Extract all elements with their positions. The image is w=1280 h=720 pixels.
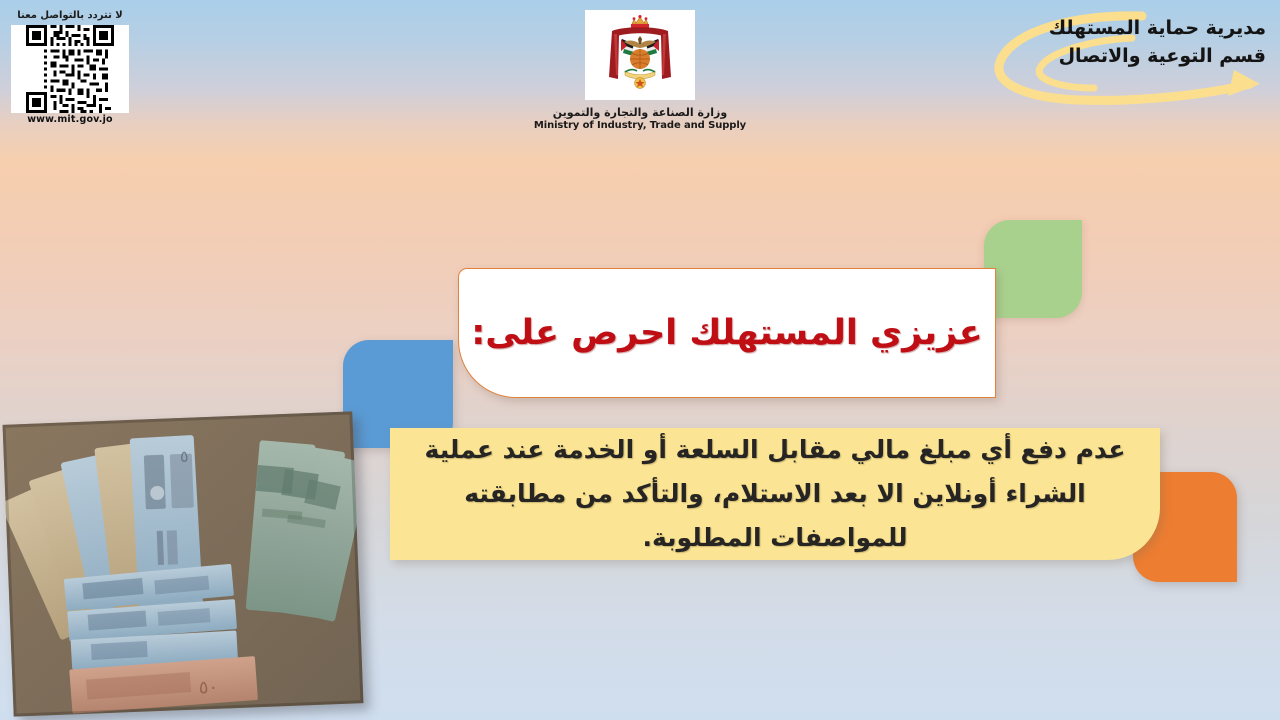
banknotes-photo-drawing: ٥ ٥٠ <box>3 411 364 716</box>
qr-code-icon[interactable] <box>11 25 129 113</box>
title-card: عزيزي المستهلك احرص على: <box>458 268 996 398</box>
qr-caption: لا تتردد بالتواصل معنا <box>6 10 134 22</box>
page-title: عزيزي المستهلك احرص على: <box>471 311 982 355</box>
body-card: عدم دفع أي مبلغ مالي مقابل السلعة أو الخ… <box>390 428 1160 560</box>
department-heading-block: مديرية حماية المستهلك قسم التوعية والاتص… <box>982 8 1272 118</box>
banknotes-photo: ٥ ٥٠ <box>3 411 364 716</box>
body-text: عدم دفع أي مبلغ مالي مقابل السلعة أو الخ… <box>390 428 1160 560</box>
department-title: مديرية حماية المستهلك قسم التوعية والاتص… <box>1049 14 1266 70</box>
qr-url-label: www.mit.gov.jo <box>6 114 134 125</box>
green-rounded-square <box>984 220 1082 318</box>
department-line-1: مديرية حماية المستهلك <box>1049 14 1266 42</box>
qr-contact-block: لا تتردد بالتواصل معنا <box>6 10 134 125</box>
poster-slide: لا تتردد بالتواصل معنا <box>0 0 1280 720</box>
department-line-2: قسم التوعية والاتصال <box>1049 42 1266 70</box>
